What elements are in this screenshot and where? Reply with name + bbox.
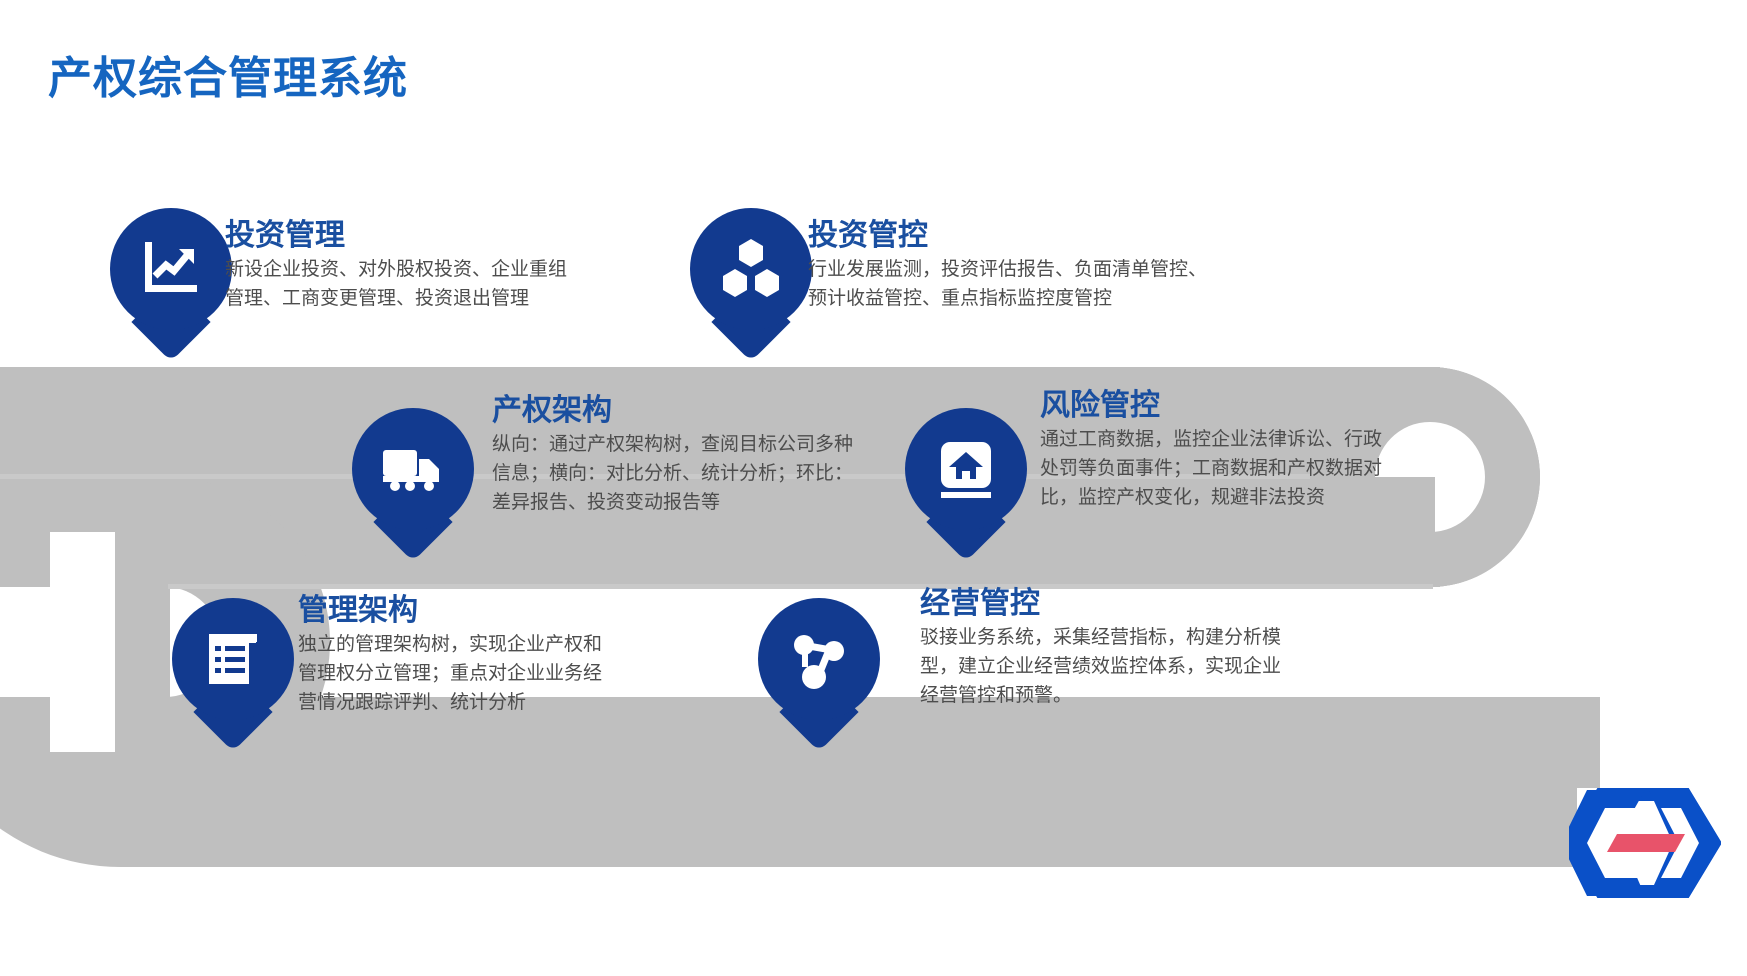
- pin-marker-investment-management[interactable]: [110, 208, 232, 358]
- card-description: 新设企业投资、对外股权投资、企业重组 管理、工商变更管理、投资退出管理: [225, 256, 567, 314]
- card-investment-control: 投资管控 行业发展监测，投资评估报告、负面清单管控、 预计收益管控、重点指标监控…: [808, 220, 1207, 314]
- truck-icon: [352, 408, 474, 530]
- card-property-structure: 产权架构 纵向：通过产权架构树，查阅目标公司多种 信息；横向：对比分析、统计分析…: [492, 395, 853, 518]
- pin-marker-property-structure[interactable]: [352, 408, 474, 558]
- card-description: 行业发展监测，投资评估报告、负面清单管控、 预计收益管控、重点指标监控度管控: [808, 256, 1207, 314]
- card-description: 纵向：通过产权架构树，查阅目标公司多种 信息；横向：对比分析、统计分析；环比： …: [492, 431, 853, 518]
- card-operation-control: 经营管控 驳接业务系统，采集经营指标，构建分析模 型，建立企业经营绩效监控体系，…: [920, 588, 1281, 711]
- card-description: 驳接业务系统，采集经营指标，构建分析模 型，建立企业经营绩效监控体系，实现企业 …: [920, 624, 1281, 711]
- card-management-structure: 管理架构 独立的管理架构树，实现企业产权和 管理权分立管理；重点对企业业务经 营…: [298, 595, 602, 718]
- card-title: 管理架构: [298, 595, 602, 627]
- card-title: 产权架构: [492, 395, 853, 427]
- card-title: 风险管控: [1040, 390, 1382, 422]
- pin-marker-risk-control[interactable]: [905, 408, 1027, 558]
- card-risk-control: 风险管控 通过工商数据，监控企业法律诉讼、行政 处罚等负面事件；工商数据和产权数…: [1040, 390, 1382, 513]
- snake-path-graphic: [0, 0, 1747, 976]
- house-shield-icon: [905, 408, 1027, 530]
- document-list-icon: [172, 598, 294, 720]
- pin-marker-management-structure[interactable]: [172, 598, 294, 748]
- hexagon-cluster-icon: [690, 208, 812, 330]
- company-logo: [1569, 788, 1721, 898]
- pin-marker-operation-control[interactable]: [758, 598, 880, 748]
- pin-marker-investment-control[interactable]: [690, 208, 812, 358]
- card-title: 投资管理: [225, 220, 567, 252]
- chart-trend-up-icon: [110, 208, 232, 330]
- network-nodes-icon: [758, 598, 880, 720]
- card-title: 投资管控: [808, 220, 1207, 252]
- card-investment-management: 投资管理 新设企业投资、对外股权投资、企业重组 管理、工商变更管理、投资退出管理: [225, 220, 567, 314]
- card-title: 经营管控: [920, 588, 1281, 620]
- card-description: 独立的管理架构树，实现企业产权和 管理权分立管理；重点对企业业务经 营情况跟踪评…: [298, 631, 602, 718]
- card-description: 通过工商数据，监控企业法律诉讼、行政 处罚等负面事件；工商数据和产权数据对 比，…: [1040, 426, 1382, 513]
